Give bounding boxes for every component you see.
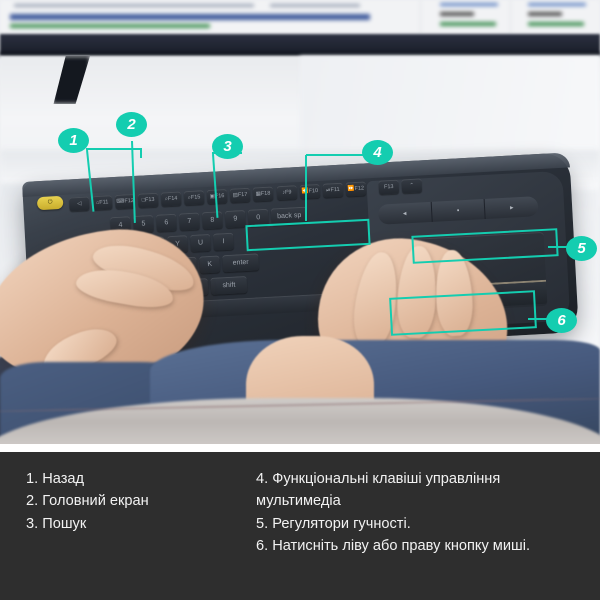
key-8[interactable]: 8 — [202, 211, 223, 229]
key-enter[interactable]: enter — [222, 253, 259, 272]
fn-key-f17[interactable]: ▤F17 — [230, 188, 251, 203]
blurred-monitor-screen — [0, 0, 600, 34]
fn-key-f14[interactable]: ⌕F14 — [161, 191, 182, 206]
fn-key-f13[interactable]: □F13 — [138, 193, 159, 208]
volume-down-key[interactable]: ◂ — [378, 202, 433, 225]
fn-key-f18[interactable]: ▦F18 — [253, 186, 274, 201]
product-image-with-caption: logitech ◂ ▪ ▸ ⏻ ◁ ⌂F11 ⌨F12 □F13 ⌕F14 — [0, 0, 600, 600]
key-7[interactable]: 7 — [179, 212, 200, 230]
fn-key-f15[interactable]: ⌕F15 — [184, 190, 205, 205]
key-k[interactable]: K — [199, 255, 220, 273]
caption-item-2: 2. Головний екран — [26, 490, 238, 512]
volume-control-buttons[interactable]: ◂ ▪ ▸ — [378, 196, 539, 225]
caption-item-5: 5. Регулятори гучності. — [256, 513, 582, 535]
caption-panel: 1. Назад 2. Головний екран 3. Пошук 4. Ф… — [0, 452, 600, 600]
key-shift[interactable]: shift — [210, 276, 247, 295]
caption-item-3: 3. Пошук — [26, 513, 238, 535]
key-9[interactable]: 9 — [225, 210, 246, 228]
fn-key-home[interactable]: ⌂F11 — [92, 195, 113, 210]
caption-column-left: 1. Назад 2. Головний екран 3. Пошук — [26, 468, 238, 557]
media-key-play-pause[interactable]: ⏯F11 — [323, 183, 344, 198]
callout-badge-6: 6 — [546, 308, 577, 333]
power-button[interactable]: ⏻ — [37, 196, 64, 210]
key-i[interactable]: I — [213, 233, 234, 251]
callout-badge-1: 1 — [58, 128, 89, 153]
media-key-group[interactable]: ♪F9 ⏪F10 ⏯F11 ⏩F12 — [277, 181, 367, 200]
caption-item-1: 1. Назад — [26, 468, 238, 490]
key-u[interactable]: U — [190, 234, 211, 252]
media-key-prev[interactable]: ⏪F10 — [300, 184, 321, 199]
key-6[interactable]: 6 — [156, 214, 177, 232]
caption-item-4: 4. Функціональні клавіші управління муль… — [256, 468, 582, 513]
callout-badge-4: 4 — [362, 140, 393, 165]
callout-6-highlight-box — [389, 290, 537, 336]
volume-up-key[interactable]: ▸ — [485, 196, 539, 219]
product-photo: logitech ◂ ▪ ▸ ⏻ ◁ ⌂F11 ⌨F12 □F13 ⌕F14 — [0, 0, 600, 444]
callout-badge-2: 2 — [116, 112, 147, 137]
extra-key-lock[interactable]: ⌃ — [401, 178, 422, 193]
callout-badge-3: 3 — [212, 134, 243, 159]
caption-column-right: 4. Функціональні клавіші управління муль… — [256, 468, 582, 557]
caption-item-6: 6. Натисніть ліву або праву кнопку миші. — [256, 535, 582, 557]
mute-key[interactable]: ▪ — [431, 199, 486, 222]
extra-key-f13[interactable]: F13 — [378, 180, 399, 195]
media-key-next[interactable]: ⏩F12 — [346, 181, 367, 196]
media-key-mute[interactable]: ♪F9 — [277, 185, 298, 200]
callout-badge-5: 5 — [566, 236, 597, 261]
fn-key-back[interactable]: ◁ — [69, 196, 90, 211]
extra-key-group[interactable]: F13 ⌃ — [378, 178, 422, 194]
